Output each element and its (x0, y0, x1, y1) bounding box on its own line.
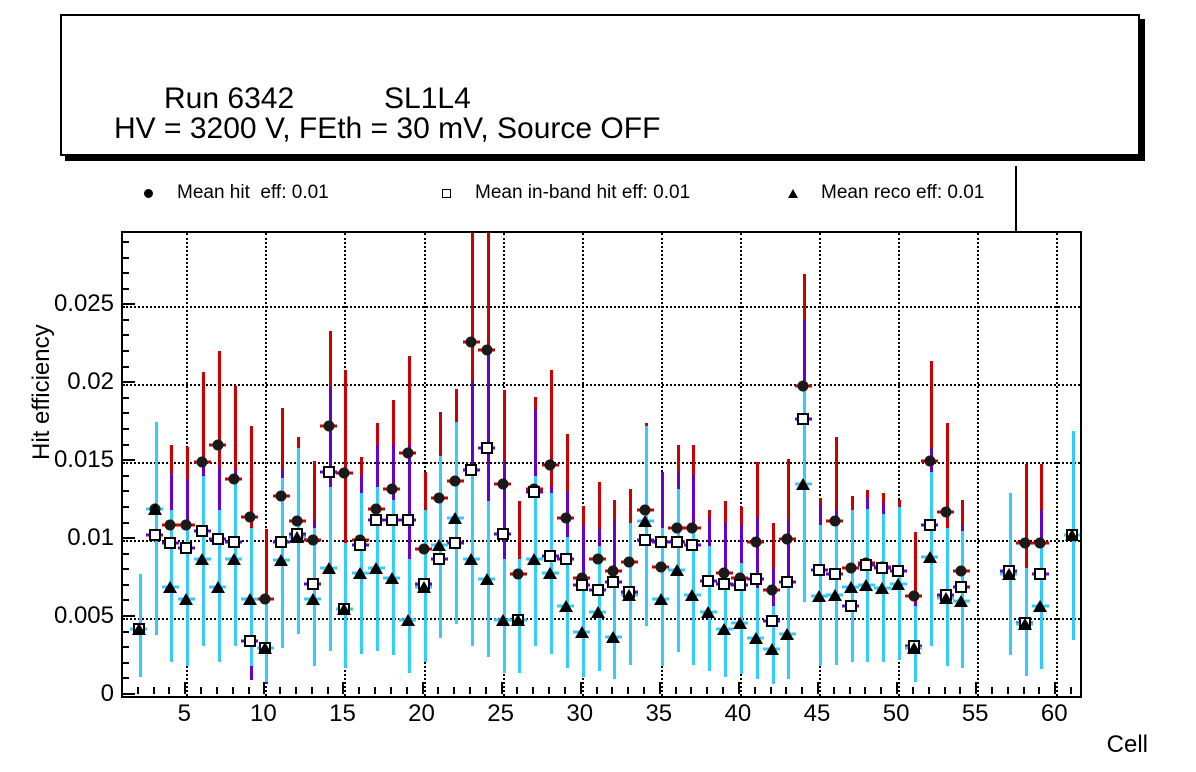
legend-label-inband-hit-eff: Mean in-band hit eff: 0.01 (475, 182, 690, 204)
legend-entry-inband-hit-eff: Mean in-band hit eff: 0.01 (441, 180, 690, 206)
filled-triangle-icon (787, 187, 799, 199)
data-point-open-square (1034, 568, 1046, 580)
x-axis-minor-tick (611, 687, 613, 694)
data-point-filled-triangle (448, 512, 462, 524)
data-point-open-square (196, 525, 208, 537)
data-point-filled-circle (386, 483, 397, 494)
data-point-filled-circle (197, 457, 208, 468)
x-axis-tick-mark (501, 682, 503, 694)
x-axis-minor-tick (516, 687, 518, 694)
x-axis-minor-tick (406, 687, 408, 694)
data-point-filled-triangle (844, 581, 858, 593)
data-point-filled-triangle (132, 623, 146, 635)
data-point-filled-triangle (796, 478, 810, 490)
data-point-filled-triangle (148, 503, 162, 515)
data-point-open-square (354, 539, 366, 551)
data-point-open-square (671, 536, 683, 548)
x-axis-minor-tick (912, 687, 914, 694)
x-axis-tick-mark (342, 682, 344, 694)
x-axis-minor-tick (153, 687, 155, 694)
data-point-open-square (212, 533, 224, 545)
data-point-filled-triangle (733, 617, 747, 629)
data-point-open-square (955, 581, 967, 593)
x-axis-minor-tick (453, 687, 455, 694)
x-axis-tick-mark (422, 682, 424, 694)
x-axis-tick-mark (263, 682, 265, 694)
x-axis-minor-tick (849, 687, 851, 694)
data-point-filled-circle (940, 507, 951, 518)
data-point-filled-circle (276, 491, 287, 502)
legend-entry-hit-eff: Mean hit eff: 0.01 (143, 180, 329, 206)
data-point-filled-circle (845, 563, 856, 574)
data-point-open-square (607, 576, 619, 588)
data-point-open-square (686, 539, 698, 551)
filled-circle-icon (143, 187, 155, 199)
data-point-open-square (750, 573, 762, 585)
data-point-open-square (845, 600, 857, 612)
x-axis-minor-tick (137, 687, 139, 694)
x-axis-tick-mark (184, 682, 186, 694)
data-point-filled-triangle (717, 623, 731, 635)
data-point-filled-circle (829, 516, 840, 527)
plot-canvas: Run 6342SL1L4 HV = 3200 V, FEth = 30 mV,… (0, 0, 1196, 772)
data-point-filled-triangle (195, 553, 209, 565)
data-point-open-square (528, 486, 540, 498)
legend-entry-reco-eff: Mean reco eff: 0.01 (787, 180, 984, 206)
x-axis-minor-tick (232, 687, 234, 694)
x-axis-minor-tick (485, 687, 487, 694)
data-point-filled-triangle (859, 579, 873, 591)
legend-label-hit-eff: Mean hit eff: 0.01 (177, 182, 329, 204)
data-point-filled-circle (592, 553, 603, 564)
x-axis-minor-tick (1070, 687, 1072, 694)
data-point-open-square (275, 536, 287, 548)
data-point-open-square (164, 537, 176, 549)
data-point-filled-circle (228, 474, 239, 485)
data-point-filled-circle (956, 566, 967, 577)
data-point-filled-triangle (511, 614, 525, 626)
data-point-filled-triangle (828, 589, 842, 601)
x-axis-minor-tick (564, 687, 566, 694)
data-point-filled-circle (323, 421, 334, 432)
data-point-filled-triangle (1002, 568, 1016, 580)
x-axis-minor-tick (295, 687, 297, 694)
data-point-filled-circle (181, 519, 192, 530)
data-point-filled-circle (165, 519, 176, 530)
x-axis-minor-tick (643, 687, 645, 694)
data-point-open-square (766, 615, 778, 627)
data-point-filled-circle (292, 516, 303, 527)
data-point-filled-circle (260, 594, 271, 605)
data-point-filled-triangle (654, 593, 668, 605)
data-point-filled-triangle (385, 572, 399, 584)
open-square-icon (441, 187, 453, 199)
data-point-filled-triangle (765, 643, 779, 655)
x-axis-tick-label: 50 (883, 700, 910, 728)
x-axis-minor-tick (532, 687, 534, 694)
data-point-open-square (465, 464, 477, 476)
y-axis-tick-label: 0 (101, 680, 114, 708)
data-point-filled-triangle (591, 606, 605, 618)
x-axis-minor-tick (248, 687, 250, 694)
x-axis-tick-mark (580, 682, 582, 694)
data-point-filled-circle (481, 344, 492, 355)
data-point-filled-triangle (179, 593, 193, 605)
data-point-filled-triangle (939, 592, 953, 604)
data-point-filled-circle (339, 468, 350, 479)
x-axis-tick-label: 20 (408, 700, 435, 728)
y-axis-tick-label: 0.025 (54, 290, 114, 318)
data-point-filled-triangle (227, 553, 241, 565)
title-box: Run 6342SL1L4 HV = 3200 V, FEth = 30 mV,… (60, 14, 1140, 156)
data-point-open-square (386, 514, 398, 526)
legend: Mean hit eff: 0.01 Mean in-band hit eff:… (121, 166, 1017, 231)
data-point-open-square (149, 529, 161, 541)
error-bar (344, 370, 347, 560)
y-axis-tick-label: 0.015 (54, 446, 114, 474)
data-point-filled-circle (608, 566, 619, 577)
gridline-vertical (977, 233, 979, 696)
gridline-vertical (1056, 233, 1058, 696)
data-point-filled-circle (434, 493, 445, 504)
data-point-open-square (449, 537, 461, 549)
data-point-open-square (433, 553, 445, 565)
x-axis-minor-tick (200, 687, 202, 694)
plot-area (123, 233, 1080, 696)
x-axis-minor-tick (596, 687, 598, 694)
x-axis-minor-tick (959, 687, 961, 694)
x-axis-tick-label: 40 (725, 700, 752, 728)
y-axis-tick-label: 0.02 (67, 368, 114, 396)
x-axis-minor-tick (390, 687, 392, 694)
x-axis-title: Cell (1107, 731, 1148, 759)
data-point-filled-triangle (401, 614, 415, 626)
x-axis-tick-label: 55 (962, 700, 989, 728)
data-point-open-square (655, 536, 667, 548)
x-axis-minor-tick (864, 687, 866, 694)
x-axis-minor-tick (722, 687, 724, 694)
data-point-filled-triangle (274, 554, 288, 566)
x-axis-tick-label: 15 (329, 700, 356, 728)
data-point-filled-triangle (243, 593, 257, 605)
data-point-filled-triangle (891, 578, 905, 590)
data-point-filled-triangle (527, 553, 541, 565)
data-point-filled-circle (687, 522, 698, 533)
x-axis-tick-mark (659, 682, 661, 694)
data-point-filled-triangle (163, 581, 177, 593)
data-point-filled-triangle (290, 531, 304, 543)
data-point-filled-triangle (638, 515, 652, 527)
data-point-open-square (497, 528, 509, 540)
x-axis-tick-label: 5 (178, 700, 191, 728)
data-point-filled-circle (545, 460, 556, 471)
x-axis-tick-mark (738, 682, 740, 694)
data-point-filled-triangle (496, 614, 510, 626)
data-point-open-square (576, 579, 588, 591)
data-point-filled-triangle (480, 573, 494, 585)
data-point-filled-circle (307, 535, 318, 546)
data-point-filled-triangle (575, 626, 589, 638)
data-point-filled-circle (782, 533, 793, 544)
data-point-filled-triangle (923, 551, 937, 563)
x-axis-tick-label: 45 (804, 700, 831, 728)
data-point-filled-triangle (559, 600, 573, 612)
data-point-open-square (370, 514, 382, 526)
x-axis-tick-mark (817, 682, 819, 694)
data-point-filled-circle (497, 478, 508, 489)
x-axis-minor-tick (311, 687, 313, 694)
x-axis-minor-tick (706, 687, 708, 694)
x-axis-minor-tick (928, 687, 930, 694)
data-point-filled-triangle (701, 606, 715, 618)
x-axis-tick-label: 60 (1041, 700, 1068, 728)
data-point-open-square (244, 635, 256, 647)
x-axis-minor-tick (548, 687, 550, 694)
data-point-filled-circle (560, 513, 571, 524)
y-axis-tick-label: 0.005 (54, 602, 114, 630)
data-point-open-square (544, 550, 556, 562)
data-point-open-square (860, 559, 872, 571)
data-point-open-square (829, 568, 841, 580)
legend-label-reco-eff: Mean reco eff: 0.01 (821, 182, 984, 204)
x-axis-minor-tick (770, 687, 772, 694)
x-axis-minor-tick (754, 687, 756, 694)
x-axis-tick-mark (975, 682, 977, 694)
data-point-filled-triangle (258, 642, 272, 654)
data-point-open-square (876, 562, 888, 574)
data-point-filled-circle (244, 511, 255, 522)
data-point-open-square (560, 553, 572, 565)
data-point-open-square (639, 534, 651, 546)
data-point-filled-circle (513, 569, 524, 580)
data-point-filled-triangle (875, 582, 889, 594)
data-point-open-square (718, 578, 730, 590)
x-axis-minor-tick (801, 687, 803, 694)
data-point-open-square (481, 442, 493, 454)
data-point-open-square (924, 519, 936, 531)
data-point-filled-circle (655, 561, 666, 572)
superlayer-label: SL1L4 (384, 82, 471, 115)
data-point-open-square (892, 565, 904, 577)
title-line-conditions: HV = 3200 V, FEth = 30 mV, Source OFF (114, 112, 660, 146)
data-point-filled-circle (719, 567, 730, 578)
x-axis-minor-tick (785, 687, 787, 694)
data-point-filled-circle (798, 380, 809, 391)
data-point-filled-triangle (322, 562, 336, 574)
x-axis-minor-tick (1038, 687, 1040, 694)
data-point-filled-circle (750, 536, 761, 547)
data-point-filled-circle (418, 544, 429, 555)
x-axis-minor-tick (168, 687, 170, 694)
data-point-filled-triangle (622, 589, 636, 601)
data-point-filled-triangle (606, 631, 620, 643)
data-point-filled-circle (402, 447, 413, 458)
data-point-filled-circle (212, 440, 223, 451)
data-point-filled-triangle (1033, 600, 1047, 612)
y-axis-tick-label: 0.01 (67, 524, 114, 552)
data-point-filled-triangle (464, 553, 478, 565)
x-axis-minor-tick (1023, 687, 1025, 694)
x-axis-minor-tick (279, 687, 281, 694)
x-axis-minor-tick (216, 687, 218, 694)
data-point-open-square (702, 575, 714, 587)
data-point-open-square (592, 584, 604, 596)
data-point-filled-triangle (812, 590, 826, 602)
data-point-filled-triangle (337, 603, 351, 615)
data-point-open-square (734, 579, 746, 591)
x-axis-minor-tick (1007, 687, 1009, 694)
x-axis-minor-tick (437, 687, 439, 694)
data-point-filled-circle (766, 584, 777, 595)
data-point-filled-circle (1019, 538, 1030, 549)
data-point-filled-circle (624, 556, 635, 567)
x-axis-minor-tick (833, 687, 835, 694)
data-point-filled-triangle (369, 562, 383, 574)
data-point-open-square (402, 514, 414, 526)
data-point-filled-triangle (749, 632, 763, 644)
error-bar (155, 422, 158, 636)
x-axis-tick-label: 10 (250, 700, 277, 728)
data-point-filled-triangle (685, 589, 699, 601)
x-axis-tick-mark (1054, 682, 1056, 694)
x-axis-minor-tick (944, 687, 946, 694)
data-point-filled-circle (908, 591, 919, 602)
x-axis-minor-tick (880, 687, 882, 694)
x-axis-tick-label: 35 (645, 700, 672, 728)
data-point-filled-triangle (417, 581, 431, 593)
data-point-open-square (228, 536, 240, 548)
data-point-filled-circle (450, 475, 461, 486)
data-point-filled-circle (671, 522, 682, 533)
x-axis-tick-label: 25 (487, 700, 514, 728)
data-point-filled-circle (466, 337, 477, 348)
x-axis-minor-tick (627, 687, 629, 694)
x-axis-minor-tick (358, 687, 360, 694)
run-label: Run 6342 (164, 82, 384, 116)
data-point-filled-triangle (432, 539, 446, 551)
data-point-filled-circle (640, 505, 651, 516)
data-point-filled-triangle (306, 593, 320, 605)
x-axis-minor-tick (690, 687, 692, 694)
x-axis-tick-mark (896, 682, 898, 694)
data-point-open-square (323, 466, 335, 478)
x-axis-minor-tick (327, 687, 329, 694)
data-point-filled-triangle (954, 595, 968, 607)
plot-frame (121, 231, 1082, 698)
data-point-open-square (797, 413, 809, 425)
data-point-open-square (813, 564, 825, 576)
y-axis-tick-labels: 00.0050.010.0150.020.025 (0, 231, 114, 694)
data-point-filled-triangle (1065, 529, 1079, 541)
data-point-filled-circle (1035, 538, 1046, 549)
data-point-filled-triangle (211, 581, 225, 593)
x-axis-minor-tick (469, 687, 471, 694)
data-point-open-square (180, 542, 192, 554)
data-point-filled-triangle (907, 642, 921, 654)
x-axis-minor-tick (991, 687, 993, 694)
data-point-filled-triangle (353, 567, 367, 579)
data-point-filled-triangle (780, 628, 794, 640)
data-point-open-square (781, 576, 793, 588)
data-point-filled-circle (371, 503, 382, 514)
data-point-filled-triangle (670, 564, 684, 576)
x-axis-minor-tick (374, 687, 376, 694)
data-point-filled-triangle (543, 567, 557, 579)
data-point-filled-circle (924, 455, 935, 466)
x-axis-minor-tick (675, 687, 677, 694)
data-point-open-square (307, 578, 319, 590)
x-axis-tick-label: 30 (566, 700, 593, 728)
data-point-filled-triangle (1018, 618, 1032, 630)
